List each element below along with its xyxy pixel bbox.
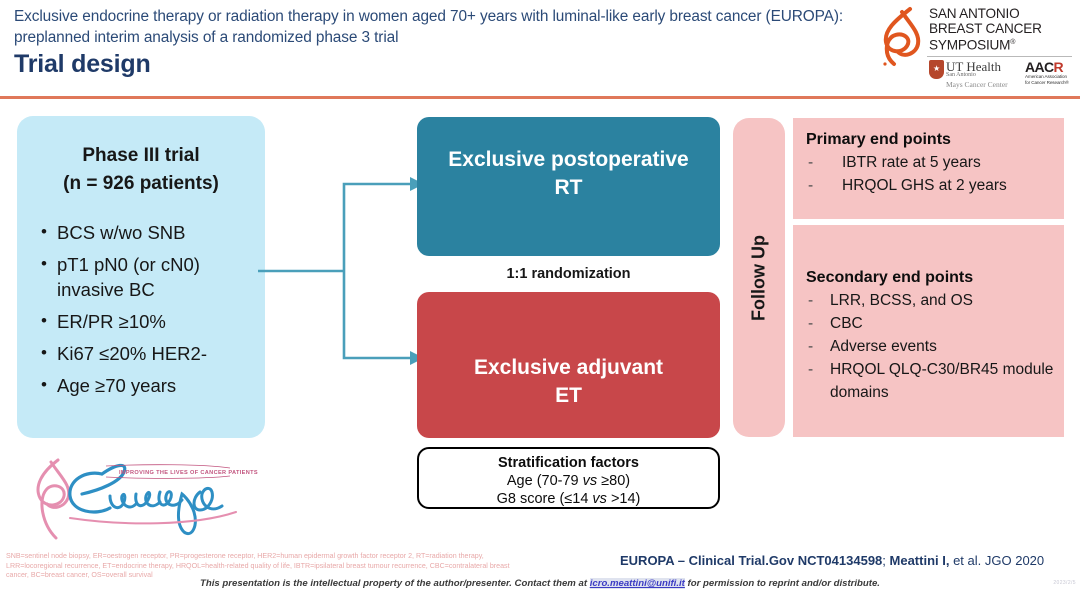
citation-author: Meattini I, [890,553,950,568]
sabcs-logo: SAN ANTONIO BREAST CANCER SYMPOSIUM® ★ U… [880,4,1072,90]
primary-end-points-panel: Primary end points IBTR rate at 5 years … [793,118,1064,219]
presenter-email-link[interactable]: icro.meattini@unifi.it [590,578,685,589]
arm-rt-label-line-2: RT [448,174,688,202]
primary-end-points-title: Primary end points [806,129,1064,150]
list-item: CBC [808,312,1064,335]
citation-trial-id: EUROPA – Clinical Trial.Gov NCT04134598 [620,553,882,568]
slide-subtitle: Exclusive endocrine therapy or radiation… [14,6,859,48]
list-item: Age ≥70 years [41,373,259,398]
eligibility-box: Phase III trial (n = 926 patients) BCS w… [17,116,265,438]
arm-box-rt: Exclusive postoperative RT [417,117,720,256]
randomization-connector [258,160,436,382]
list-item: BCS w/wo SNB [41,220,259,245]
sabcs-line-1: SAN ANTONIO [929,7,1042,22]
europa-logo-artwork [24,446,264,548]
aacr-subtitle-1: American Association [1025,74,1073,80]
arm-box-et: Exclusive adjuvant ET [417,292,720,438]
list-item: Ki67 ≤20% HER2- [41,341,259,366]
ut-health-logo: ★ UT Health San Antonio Mays Cancer Cent… [929,60,1019,90]
pink-ribbon-icon [38,460,64,538]
registered-mark: ® [1010,39,1015,46]
list-item: pT1 pN0 (or cN0) invasive BC [41,252,259,302]
stratification-box: Stratification factors Age (70-79 vs ≥80… [417,447,720,509]
sabcs-line-2: BREAST CANCER [929,22,1042,37]
aacr-logo: AACR American Association for Cancer Res… [1025,60,1073,85]
ut-health-city: San Antonio [946,72,976,78]
randomization-label: 1:1 randomization [417,266,720,282]
follow-up-label: Follow Up [749,235,770,321]
primary-end-points-list: IBTR rate at 5 years HRQOL GHS at 2 year… [808,151,1064,197]
list-item: HRQOL GHS at 2 years [808,174,1064,197]
slide-watermark: 2023/2/5 [1053,580,1076,586]
eligibility-criteria-list: BCS w/wo SNB pT1 pN0 (or cN0) invasive B… [17,220,265,398]
europa-logo: IMPROVING THE LIVES OF CANCER PATIENTS [24,446,264,548]
sabcs-line-3: SYMPOSIUM® [929,36,1042,53]
aacr-subtitle-2: for Cancer Research® [1025,80,1073,86]
sabcs-wordmark: SAN ANTONIO BREAST CANCER SYMPOSIUM® [929,7,1042,53]
arm-et-label-line-1: Exclusive adjuvant [474,354,663,382]
copyright-disclaimer: This presentation is the intellectual pr… [0,578,1080,589]
secondary-end-points-title: Secondary end points [806,267,1064,288]
list-item: ER/PR ≥10% [41,309,259,334]
sabcs-ribbon-icon [880,6,926,68]
eligibility-title-line-1: Phase III trial [17,142,265,170]
arm-et-label-line-2: ET [474,382,663,410]
logo-divider [927,56,1072,57]
aacr-wordmark: AACR [1025,60,1073,74]
arm-rt-label-line-1: Exclusive postoperative [448,146,688,174]
eligibility-title: Phase III trial (n = 926 patients) [17,142,265,198]
eligibility-title-line-2: (n = 926 patients) [17,170,265,198]
list-item: IBTR rate at 5 years [808,151,1064,174]
follow-up-column: Follow Up [733,118,785,437]
slide-canvas: Exclusive endocrine therapy or radiation… [0,0,1080,596]
stratification-factor-g8: G8 score (≤14 vs >14) [419,490,718,508]
ut-health-center: Mays Cancer Center [946,80,1008,89]
list-item: Adverse events [808,335,1064,358]
secondary-end-points-list: LRR, BCSS, and OS CBC Adverse events HRQ… [808,289,1064,404]
europa-tagline: IMPROVING THE LIVES OF CANCER PATIENTS [119,470,258,476]
page-title: Trial design [14,50,151,79]
citation-reference: EUROPA – Clinical Trial.Gov NCT04134598;… [620,553,1044,568]
list-item: HRQOL QLQ-C30/BR45 module domains [808,358,1064,404]
list-item: LRR, BCSS, and OS [808,289,1064,312]
abbreviations-footnote: SNB=sentinel node biopsy, ER=oestrogen r… [6,552,526,581]
stratification-factor-age: Age (70-79 vs ≥80) [419,472,718,490]
header-divider [0,96,1080,99]
citation-journal: et al. JGO 2020 [949,553,1044,568]
stratification-title: Stratification factors [419,454,718,472]
ut-star-icon: ★ [933,65,940,73]
secondary-end-points-panel: Secondary end points LRR, BCSS, and OS C… [793,225,1064,437]
